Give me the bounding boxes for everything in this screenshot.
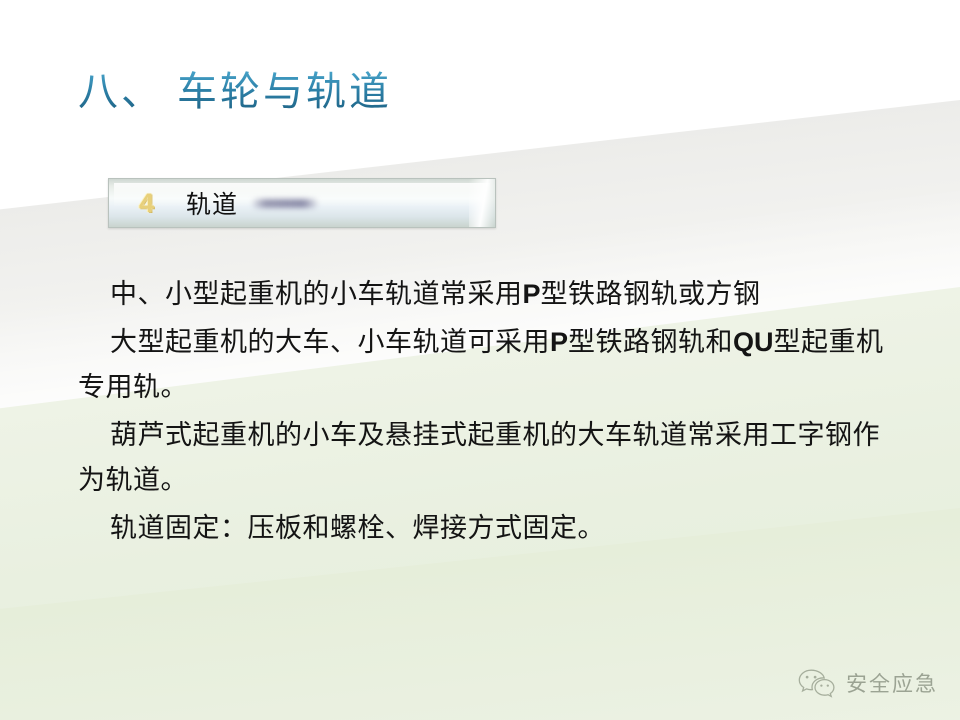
body-paragraph: 大型起重机的大车、小车轨道可采用P型铁路钢轨和QU型起重机专用轨。 — [78, 320, 904, 410]
slide-canvas: 八、 车轮与轨道 4 轨道 中、小型起重机的小车轨道常采用P型铁路钢轨或方钢大型… — [0, 0, 960, 720]
text-run-cjk: 型铁路钢轨或方钢 — [541, 279, 761, 309]
body-paragraph: 轨道固定：压板和螺栓、焊接方式固定。 — [78, 506, 904, 551]
body-text-block: 中、小型起重机的小车轨道常采用P型铁路钢轨或方钢大型起重机的大车、小车轨道可采用… — [78, 272, 904, 554]
body-paragraph: 葫芦式起重机的小车及悬挂式起重机的大车轨道常采用工字钢作为轨道。 — [78, 413, 904, 503]
section-banner-label: 轨道 — [186, 185, 238, 221]
text-run-cjk: 大型起重机的大车、小车轨道可采用 — [110, 327, 550, 357]
text-run-cjk: 中、小型起重机的小车轨道常采用 — [110, 279, 523, 309]
watermark: 安全应急 — [797, 668, 938, 698]
redacted-bar — [252, 199, 318, 208]
text-run-cjk: 轨道固定：压板和螺栓、焊接方式固定。 — [110, 513, 605, 543]
text-run-cjk: 型铁路钢轨和 — [568, 327, 733, 357]
text-run-cjk: 葫芦式起重机的小车及悬挂式起重机的大车轨道常采用工字钢作为轨道。 — [78, 420, 880, 495]
section-banner: 4 轨道 — [108, 178, 496, 228]
watermark-label: 安全应急 — [846, 668, 938, 698]
text-run-latin: P — [523, 279, 541, 309]
wechat-icon — [797, 668, 837, 698]
text-run-latin: QU — [733, 327, 774, 357]
body-paragraph: 中、小型起重机的小车轨道常采用P型铁路钢轨或方钢 — [78, 272, 904, 317]
section-number-badge: 4 — [139, 188, 154, 219]
page-title: 八、 车轮与轨道 — [78, 68, 392, 116]
text-run-latin: P — [550, 327, 568, 357]
